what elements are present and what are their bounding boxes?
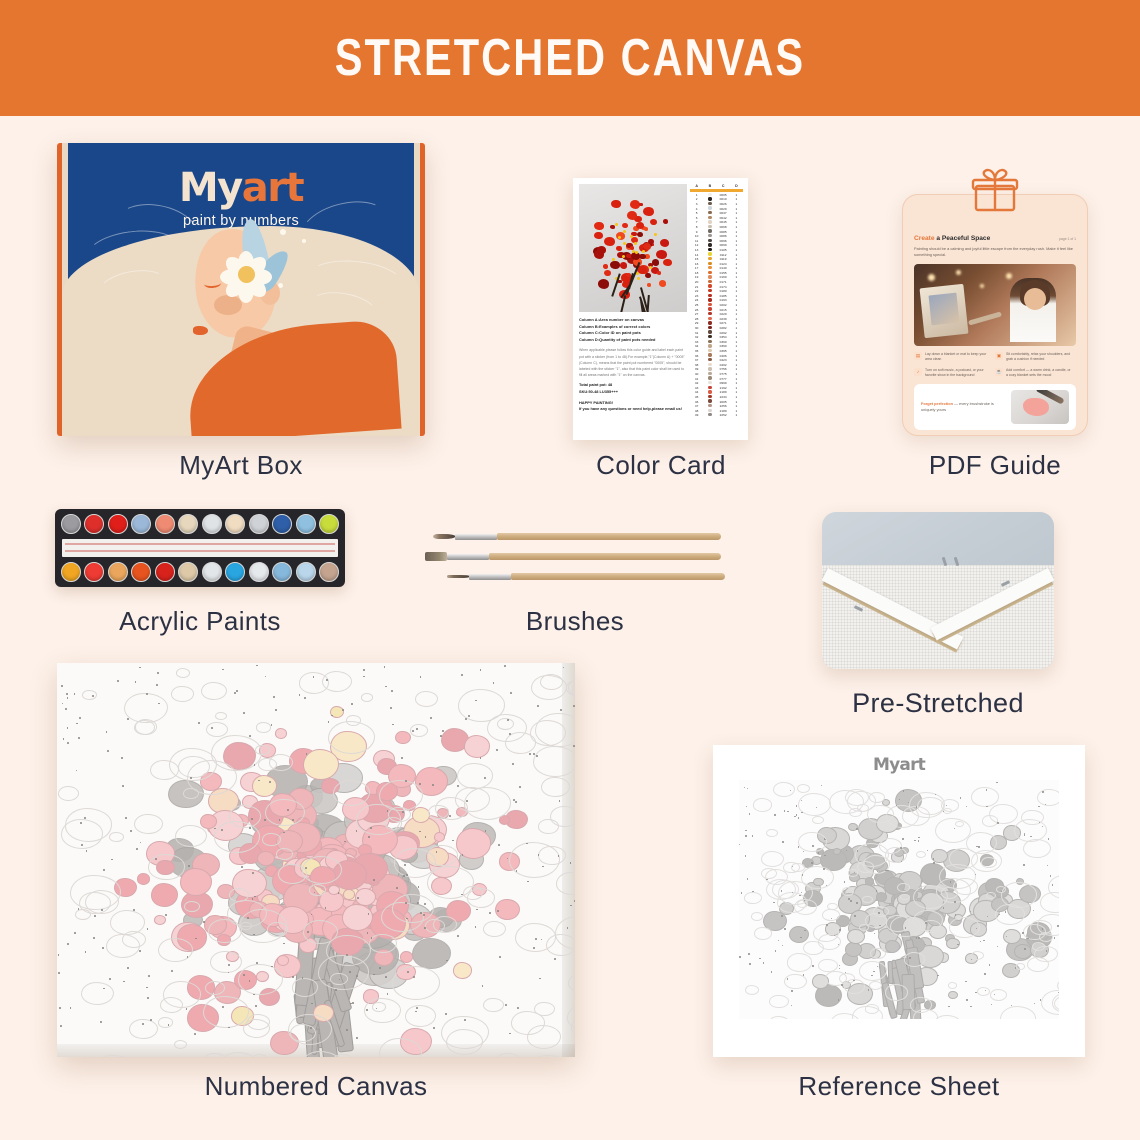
canvas-number-dot [533,947,535,949]
canvas-region-outline [81,982,114,1005]
reference-region-outline [797,784,810,793]
canvas-number-dot [127,967,129,969]
painting-highlight [615,223,618,226]
reference-region-outline [1000,1006,1037,1019]
canvas-region-outline [169,748,217,782]
swatch-row: 1200991 [690,243,743,248]
color-card-sheet: Column A:Area number on canvas Column B:… [573,178,748,440]
canvas-region-outline [175,825,207,847]
reference-number-dot [1024,948,1025,949]
canvas-number-dot [510,692,512,694]
reference-number-dot [787,811,788,812]
swatch-row: 700451 [690,220,743,225]
numbered-canvas-art [57,663,575,1057]
reference-number-dot [878,912,879,913]
myart-box-image: Myart paint by numbers [57,143,425,436]
reference-number-dot [908,802,909,803]
reference-region-outline [784,974,807,990]
swatch-row: 1100961 [690,238,743,243]
canvas-region-outline [322,671,353,692]
paint-pot [61,562,81,582]
pdf-tip-item: ☕ Add comfort — a warm drink, a candle, … [995,368,1076,379]
canvas-number-dot [352,1002,354,1004]
canvas-number-dot [252,872,254,874]
pdf-photo [914,264,1076,346]
canvas-region-outline [134,814,163,834]
reference-number-dot [801,812,802,813]
reference-number-dot [744,787,745,788]
canvas-region-outline [333,780,370,806]
canvas-region-outline [428,805,448,819]
canvas-number-dot [305,867,307,869]
canvas-region-outline [531,675,567,700]
reference-number-dot [781,915,782,916]
reference-number-dot [916,937,917,938]
reference-region-outline [916,851,926,858]
swatch-row: 300261 [690,202,743,207]
pdf-tips-list: ▤ Lay down a blanket or mat to keep your… [914,352,1076,384]
brand-logo-my: My [179,165,242,211]
canvas-number-dot [222,1006,224,1008]
canvas-region-outline [160,997,183,1013]
reference-region-outline [751,912,763,920]
swatch-row: 3704231 [690,358,743,363]
reference-number-dot [782,945,783,946]
painting-blossom [603,264,609,269]
canvas-region-outline [174,1040,187,1049]
canvas-region [395,731,411,745]
brush-handle [497,533,721,540]
canvas-region-outline [405,1005,436,1027]
painting-blossom [610,225,614,229]
col-d: D [730,184,743,188]
canvas-number-dot [368,836,370,838]
reference-number-dot [1030,836,1031,837]
canvas-number-dot [328,721,330,723]
canvas-number-dot [74,693,76,695]
canvas-region-outline [243,1019,270,1038]
canvas-number-dot [86,850,88,852]
reference-region-outline [910,997,932,1013]
reference-number-dot [902,838,903,839]
pre-stretched-image [822,512,1054,669]
swatch-row: 4107771 [690,376,743,381]
reference-number-dot [909,957,910,958]
reference-region-outline [812,816,824,824]
painting-highlight [637,277,640,280]
swatch-row: 4821891 [690,408,743,413]
reference-region [948,991,957,999]
reference-number-dot [1033,910,1034,911]
canvas-number-dot [67,727,69,729]
swatch-row: 4209991 [690,381,743,386]
canvas-region-outline [148,854,184,879]
canvas-number-dot [103,869,105,871]
pdf-guide-image: Create a Peaceful Space page 1 of 1 Pain… [902,166,1088,436]
canvas-number-dot [273,696,275,698]
painting-blossom [610,261,619,269]
swatch-row: 2602151 [690,307,743,312]
reference-region [848,823,858,831]
canvas-region-outline [256,722,271,732]
canvas-number-dot [401,757,403,759]
painting-blossom [604,237,614,246]
reference-number-dot [933,862,934,863]
canvas-region-outline [65,808,113,841]
canvas-number-dot [342,709,344,711]
painting-blossom [620,262,628,269]
painting-blossom [616,246,621,250]
canvas-region [343,889,355,899]
canvas-number-dot [255,1005,257,1007]
paint-pot [155,562,175,582]
reference-number-dot [821,785,822,786]
reference-number-dot [782,841,783,842]
canvas-region [330,706,344,718]
reference-number-dot [918,840,919,841]
reference-number-dot [876,890,877,891]
reference-region-outline [842,887,854,895]
reference-number-dot [925,922,926,923]
reference-number-dot [873,971,874,972]
sku-code: SKU:50-48 LU355+++ [579,389,687,396]
reference-number-dot [986,789,987,790]
paint-pot-row-top [61,514,339,534]
reference-region-outline [902,806,930,826]
reference-number-dot [978,846,979,847]
col-b: B [703,184,716,188]
brush-liner [447,573,725,580]
reference-number-dot [775,950,776,951]
canvas-number-dot [79,717,81,719]
caption-pre-stretched: Pre-Stretched [822,688,1054,719]
reference-number-dot [991,1004,992,1005]
page-title: STRETCHED CANVAS [335,28,805,88]
reference-number-dot [749,963,750,964]
painting-blossom [636,222,644,229]
swatch-row: 2902711 [690,321,743,326]
canvas-number-dot [121,757,123,759]
reference-region-outline [798,793,831,816]
reference-region [847,929,865,944]
swatch-row: 4321921 [690,385,743,390]
reference-number-dot [841,984,842,985]
reference-number-dot [997,822,998,823]
brush-tip [425,552,447,561]
reference-region-outline [848,869,858,876]
gift-icon [969,166,1021,212]
canvas-region-outline [205,981,225,995]
reference-number-dot [1034,1003,1035,1004]
swatch-row: 2201801 [690,289,743,294]
canvas-number-dot [269,781,271,783]
music-icon: ♪ [914,368,922,376]
reference-number-dot [791,990,792,991]
reference-number-dot [752,835,753,836]
reference-region [885,940,900,953]
canvas-number-dot [234,692,236,694]
lips-shape [193,326,208,335]
reference-number-dot [796,805,797,806]
reference-number-dot [803,851,804,852]
painting-highlight [654,233,657,236]
canvas-region-outline [215,712,227,721]
color-card-image: Column A:Area number on canvas Column B:… [573,178,748,440]
reference-number-dot [937,975,938,976]
canvas-number-dot [554,958,556,960]
canvas-number-dot [445,1013,447,1015]
reference-number-dot [935,794,936,795]
swatch-row: 2702291 [690,312,743,317]
canvas-number-dot [509,1033,511,1035]
canvas-region-outline [309,884,326,896]
canvas-number-dot [243,712,245,714]
canvas-number-dot [256,962,258,964]
reference-region-outline [870,948,885,959]
brush-ferrule [469,574,511,580]
paint-label-strip [62,539,338,557]
canvas-number-dot [464,1019,466,1021]
color-card-painting [579,184,687,312]
canvas-number-dot [148,975,150,977]
reference-number-dot [784,928,785,929]
canvas-number-dot [326,679,328,681]
reference-number-dot [824,855,825,856]
pdf-callout-thumb [1011,390,1069,424]
reference-number-dot [774,814,775,815]
swatch-row: 3804021 [690,362,743,367]
paint-pot [155,514,175,534]
painting-blossom [594,232,602,239]
canvas-number-dot [484,777,486,779]
reference-region-outline [879,838,902,854]
canvas-number-dot [228,964,230,966]
reference-number-dot [989,964,990,965]
canvas-number-dot [140,842,142,844]
canvas-region-outline [546,934,575,956]
canvas-number-dot [404,864,406,866]
canvas-region-outline [201,682,227,700]
canvas-region-outline [538,819,559,834]
canvas-number-dot [130,830,132,832]
canvas-number-dot [391,690,393,692]
canvas-number-dot [85,951,87,953]
canvas-number-dot [147,997,149,999]
canvas-region-outline [58,786,79,801]
reference-region-outline [1039,932,1053,942]
reference-region-outline [941,887,958,899]
canvas-region [180,868,212,896]
painting-blossom [647,283,651,287]
painting-blossom [650,219,657,225]
canvas-number-dot [222,669,224,671]
canvas-region [464,735,491,758]
swatch-row: 2502021 [690,303,743,308]
paint-pot [108,514,128,534]
canvas-region-outline [364,998,400,1023]
reference-region-outline [753,798,772,811]
paint-pot [178,514,198,534]
canvas-number-dot [66,693,68,695]
caption-brushes: Brushes [425,606,725,637]
canvas-region-outline [425,919,445,933]
canvas-region-outline [381,902,424,932]
canvas-number-dot [58,972,60,974]
reference-number-dot [746,806,747,807]
canvas-number-dot [147,928,149,930]
swatch-row: 3203541 [690,335,743,340]
pdf-heading: Create a Peaceful Space [914,235,990,242]
canvas-number-dot [157,672,159,674]
canvas-number-dot [203,921,205,923]
swatch-table-body: 1000512001013002614002915003716004217004… [690,193,743,418]
canvas-number-dot [93,937,95,939]
reference-number-dot [856,828,857,829]
canvas-region-outline [328,721,375,754]
canvas-number-dot [125,817,127,819]
canvas-region-outline [541,777,570,797]
canvas-region-outline [70,875,121,910]
swatch-row: 4922521 [690,413,743,418]
swatch-row: 2301851 [690,294,743,299]
canvas-number-dot [403,875,405,877]
canvas-number-dot [251,818,253,820]
legend-line: Column C:Color ID on paint pots [579,330,687,337]
canvas-number-dot [493,682,495,684]
brush-tip [447,575,469,577]
canvas-number-dot [78,737,80,739]
swatch-row: 2001711 [690,280,743,285]
canvas-number-dot [198,722,200,724]
canvas-number-dot [186,1008,188,1010]
reference-region-outline [990,989,1007,1001]
reference-region [845,942,862,957]
canvas-region-outline [109,832,124,842]
swatch-row: 4421891 [690,390,743,395]
reference-number-dot [966,999,967,1000]
swatch-row: 1801551 [690,271,743,276]
canvas-region-outline [556,872,575,895]
brush-flat [425,553,721,560]
canvas-number-dot [139,950,141,952]
reference-number-dot [1048,838,1049,839]
pdf-tip-text: Lay down a blanket or mat to keep your a… [925,352,991,363]
canvas-weave [822,565,1054,669]
painting-blossom [645,273,651,278]
swatch-row: 4620051 [690,399,743,404]
total-paint-pot: Total paint pot: 48 [579,382,687,389]
canvas-number-dot [505,1004,507,1006]
painting-blossom [660,239,670,247]
canvas-region-outline [206,722,228,737]
paint-pot [84,514,104,534]
canvas-number-dot [133,909,135,911]
legend-line: Column D:Quantity of paint pots needed [579,337,687,344]
canvas-number-dot [136,848,138,850]
canvas-number-dot [188,865,190,867]
reference-region [789,926,809,943]
painting-highlight [623,230,626,233]
swatch-row: 4522341 [690,395,743,400]
swatch-row: 3604061 [690,353,743,358]
reference-number-dot [975,874,976,875]
canvas-number-dot [271,724,273,726]
chair-icon: ▣ [995,352,1003,360]
reference-number-dot [874,933,875,934]
canvas-number-dot [413,976,415,978]
canvas-number-dot [406,874,408,876]
swatch-row: 1901601 [690,275,743,280]
canvas-number-dot [65,708,67,710]
reference-number-dot [1040,999,1041,1000]
canvas-region [275,728,288,739]
canvas-region-outline [379,780,423,811]
canvas-number-dot [536,755,538,757]
canvas-number-dot [106,731,108,733]
painting-blossom [644,227,649,231]
reference-number-dot [970,1006,971,1007]
canvas-number-dot [60,1025,62,1027]
canvas-number-dot [496,749,498,751]
canvas-region [200,814,217,828]
swatch-row: 1501191 [690,257,743,262]
cheek-shape [214,295,242,315]
caption-reference-sheet: Reference Sheet [713,1071,1085,1102]
reference-number-dot [752,891,753,892]
reference-number-dot [975,992,976,993]
reference-number-dot [818,852,819,853]
canvas-region-outline [535,713,575,747]
reference-region-outline [986,892,996,899]
canvas-number-dot [424,927,426,929]
reference-number-dot [903,790,904,791]
paint-pot [249,562,269,582]
reference-number-dot [747,788,748,789]
canvas-number-dot [63,738,65,740]
canvas-number-dot [384,666,386,668]
brush-ferrule [455,534,497,540]
pdf-tip-item: ▣ Sit comfortably, relax your shoulders,… [995,352,1076,363]
paint-pot-row-bottom [61,562,339,582]
canvas-number-dot [420,676,422,678]
canvas-number-dot [480,669,482,671]
pdf-tip-text: Turn on soft music, a podcast, or your f… [925,368,991,379]
reference-number-dot [918,837,919,838]
canvas-number-dot [573,745,575,747]
painting-blossom [594,222,604,230]
canvas-number-dot [385,686,387,688]
brush-ferrule [447,554,489,560]
reference-region-outline [769,995,789,1009]
canvas-region-outline [318,955,369,991]
canvas-number-dot [265,676,267,678]
reference-number-dot [885,870,886,871]
reference-number-dot [739,844,740,845]
canvas-number-dot [475,926,477,928]
caption-myart-box: MyArt Box [57,450,425,481]
reference-number-dot [823,868,824,869]
caption-color-card: Color Card [528,450,794,481]
swatch-row: 2101741 [690,284,743,289]
paint-pot [296,562,316,582]
canvas-number-dot [468,715,470,717]
reference-number-dot [812,965,813,966]
canvas-region [400,951,414,963]
canvas-region-outline [82,690,97,700]
reference-number-dot [960,797,961,798]
canvas-number-dot [517,1007,519,1009]
reference-number-dot [1047,865,1048,866]
